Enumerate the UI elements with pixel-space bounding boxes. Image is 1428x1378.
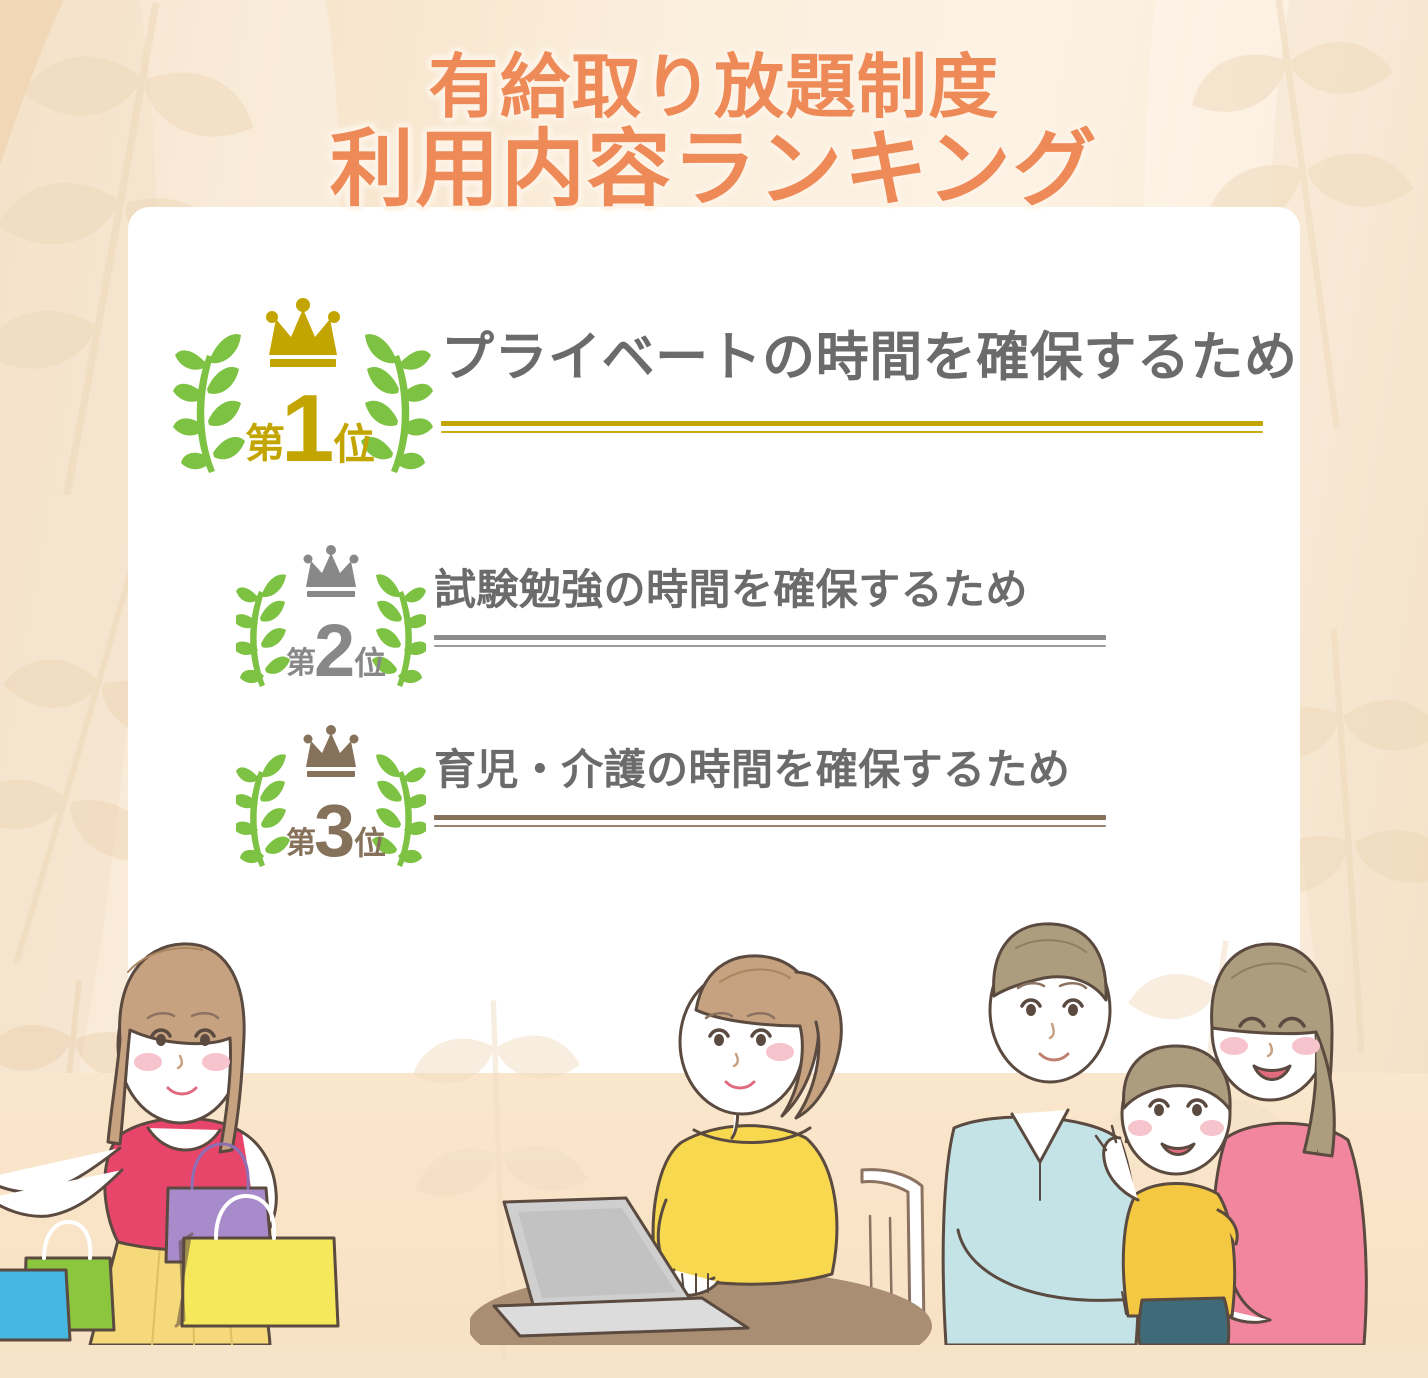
rank-badge-3: 第 3 位 <box>236 725 426 885</box>
rule-thick-line <box>434 635 1106 640</box>
rank-rule-2 <box>434 635 1106 647</box>
rank-suffix-1: 位 <box>333 421 375 468</box>
rank-content-1: プライベートの時間を確保するため <box>441 329 1297 433</box>
leaf-sprig-icon <box>1060 918 1350 1342</box>
rule-thick-line <box>441 421 1263 426</box>
rank-text-3: 育児・介護の時間を確保するため <box>434 747 1106 793</box>
crown-icon <box>266 298 340 367</box>
rank-content-2: 試験勉強の時間を確保するため <box>434 567 1106 647</box>
title-line-2: 利用内容ランキング <box>0 127 1428 213</box>
ranking-item-3: 第 3 位 育児・介護の時間を確保するため <box>236 725 1106 885</box>
laurel-left <box>236 574 290 687</box>
leaf-sprig-icon <box>361 982 649 1377</box>
rank-rule-1 <box>441 421 1263 433</box>
laurel-left <box>236 754 290 867</box>
rule-thick-line <box>434 815 1106 820</box>
rank-number-3: 3 <box>314 789 355 872</box>
rank-rule-3 <box>434 815 1106 827</box>
rule-thin-line <box>434 645 1106 647</box>
rank-suffix-3: 位 <box>354 825 386 861</box>
rank-badge-1: 第 1 位 <box>173 297 433 497</box>
ranking-item-1: 第 1 位 プライベートの時間を確保するため <box>173 297 1297 497</box>
crown-icon <box>304 725 359 777</box>
rank-prefix-2: 第 <box>286 646 316 680</box>
laurel-left <box>173 334 245 473</box>
crown-icon <box>304 545 359 597</box>
title-line-1: 有給取り放題制度 <box>0 52 1428 123</box>
rank-prefix-1: 第 <box>245 422 285 466</box>
rule-thin-line <box>434 825 1106 827</box>
rank-suffix-2: 位 <box>354 645 386 681</box>
rule-thin-line <box>441 431 1263 433</box>
rank-text-2: 試験勉強の時間を確保するため <box>434 567 1106 613</box>
rank-badge-2: 第 2 位 <box>236 545 426 705</box>
rank-content-3: 育児・介護の時間を確保するため <box>434 747 1106 827</box>
rank-text-1: プライベートの時間を確保するため <box>441 329 1297 387</box>
rank-prefix-3: 第 <box>286 826 316 860</box>
rank-number-2: 2 <box>314 609 355 692</box>
page-title: 有給取り放題制度 利用内容ランキング <box>0 52 1428 213</box>
rank-number-1: 1 <box>281 375 334 482</box>
ranking-item-2: 第 2 位 試験勉強の時間を確保するため <box>236 545 1106 705</box>
